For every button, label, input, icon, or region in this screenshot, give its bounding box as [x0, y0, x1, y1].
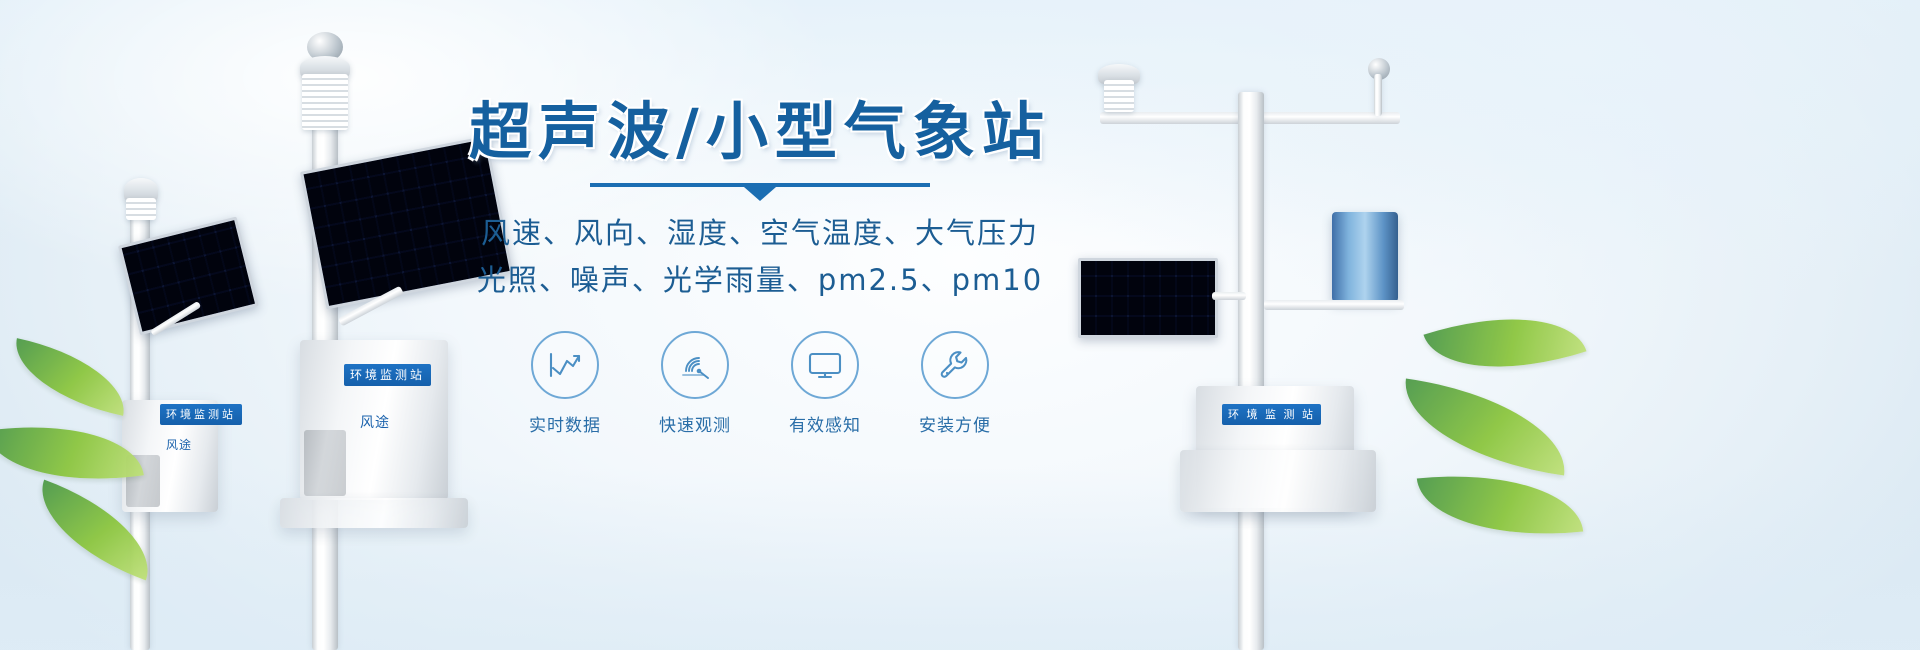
right-solar-panel: [1078, 258, 1218, 338]
product-banner: 环境监测站 风途 环境监测站 风途 环 境 监 测 站: [0, 0, 1920, 650]
feature-item-effective-sensing[interactable]: 有效感知: [782, 331, 868, 436]
right-sensor-stem: [1104, 80, 1134, 112]
title-divider: [590, 183, 930, 201]
left-cabinet-label: 环境监测站: [160, 404, 242, 425]
right-mast: [1238, 92, 1264, 650]
radar-signal-icon: [661, 331, 729, 399]
feature-label: 实时数据: [522, 411, 608, 436]
chart-line-icon: [531, 331, 599, 399]
divider-triangle-icon: [744, 187, 776, 201]
right-rain-gauge: [1332, 212, 1398, 302]
feature-item-fast-observation[interactable]: 快速观测: [652, 331, 738, 436]
feature-label: 安装方便: [912, 411, 998, 436]
right-cabinet-label: 环 境 监 测 站: [1222, 404, 1321, 425]
wrench-icon: [921, 331, 989, 399]
subtitle-line-1: 风速、风向、湿度、空气温度、大气压力: [450, 211, 1070, 256]
feature-list: 实时数据 快速观测: [450, 331, 1070, 436]
feature-item-realtime-data[interactable]: 实时数据: [522, 331, 608, 436]
right-wind-vane-stem: [1374, 74, 1382, 116]
feature-label: 快速观测: [652, 411, 738, 436]
right-gauge-shelf: [1264, 300, 1404, 310]
right-panel-bracket: [1212, 292, 1246, 300]
feature-label: 有效感知: [782, 411, 868, 436]
right-cabinet-lower: [1180, 450, 1376, 512]
left-sensor-stack: [126, 198, 156, 220]
leaf-decoration-right-1: [1423, 288, 1586, 397]
center-cabinet-door: [304, 430, 346, 496]
center-cabinet-base: [280, 498, 468, 528]
leaf-decoration-right-2: [1396, 379, 1575, 476]
feature-item-easy-install[interactable]: 安装方便: [912, 331, 998, 436]
leaf-decoration-left-1: [6, 338, 135, 416]
subtitle-line-2: 光照、噪声、光学雨量、pm2.5、pm10: [450, 258, 1070, 303]
center-brand-label: 风途: [360, 412, 390, 432]
page-title: 超声波/小型气象站: [450, 96, 1070, 167]
left-brand-label: 风途: [166, 436, 192, 453]
center-cabinet-label: 环境监测站: [344, 364, 431, 386]
monitor-screen-icon: [791, 331, 859, 399]
banner-content: 超声波/小型气象站 风速、风向、湿度、空气温度、大气压力 光照、噪声、光学雨量、…: [450, 96, 1070, 436]
center-radiation-shield: [302, 74, 348, 130]
